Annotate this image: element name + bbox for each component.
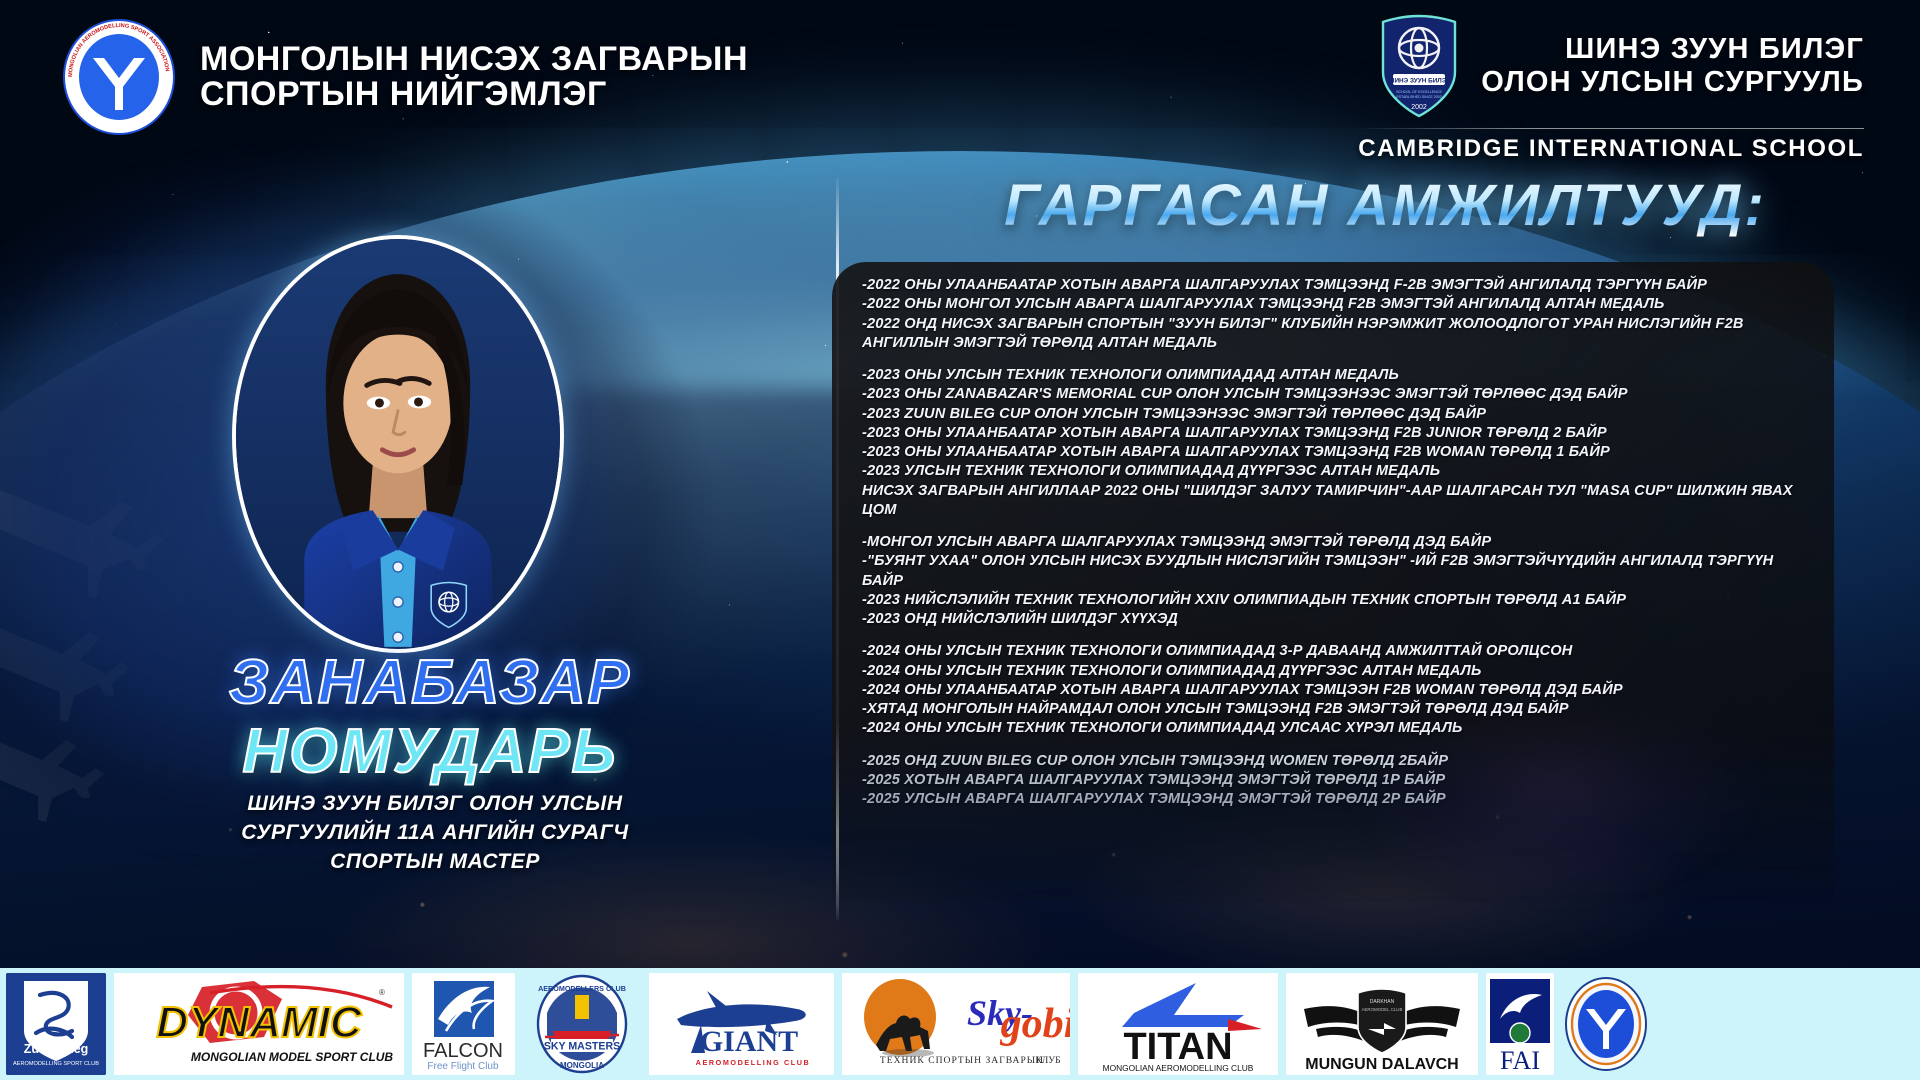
achievement-item: -2023 ОНД НИЙСЛЭЛИЙН ШИЛДЭГ ХҮҮХЭД <box>862 610 1808 629</box>
athlete-subtitle-line-1: ШИНЭ ЗУУН БИЛЭГ ОЛОН УЛСЫН <box>150 790 720 819</box>
shine-zuun-bileg-school-crest: ШИНЭ ЗУУН БИЛЭГ SCHOOL OF EXCELLENCE EST… <box>1377 14 1461 118</box>
achievement-item: НИСЭХ ЗАГВАРЫН АНГИЛЛААР 2022 ОНЫ "ШИЛДЭ… <box>862 482 1808 521</box>
masa-round-logo <box>1562 973 1650 1075</box>
svg-text:Zuun Bileg: Zuun Bileg <box>24 1042 89 1056</box>
achievement-item: -2025 ХОТЫН АВАРГА ШАЛГАРУУЛАХ ТЭМЦЭЭНД … <box>862 771 1808 790</box>
svg-text:Free Flight Club: Free Flight Club <box>427 1061 499 1072</box>
sponsor-titan[interactable]: TITAN MONGOLIAN AEROMODELLING CLUB <box>1078 973 1278 1075</box>
achievement-item: -2023 УЛСЫН ТЕХНИК ТЕХНОЛОГИ ОЛИМПИАДАД … <box>862 462 1808 481</box>
school-name: ШИНЭ ЗУУН БИЛЭГ ОЛОН УЛСЫН СУРГУУЛЬ <box>1481 33 1864 99</box>
sponsor-bar: Zuun Bileg AEROMODELLING SPORT CLUB DYNA… <box>0 968 1920 1080</box>
svg-text:DYNAMIC: DYNAMIC <box>156 998 363 1047</box>
org-line-1: МОНГОЛЫН НИСЭХ ЗАГВАРЫН <box>200 42 748 77</box>
org-name-left: МОНГОЛЫН НИСЭХ ЗАГВАРЫН СПОРТЫН НИЙГЭМЛЭ… <box>200 42 748 111</box>
sky-masters-logo: SKY MASTERS AEROMODELLERS CLUB MONGOLIA <box>523 973 641 1075</box>
achievement-spacer <box>862 629 1808 642</box>
sponsor-fai[interactable]: FAI <box>1486 973 1554 1075</box>
athlete-name-block: ЗАНАБАЗАР НОМУДАРЬ <box>0 650 860 784</box>
achievement-item: -2022 ОНД НИСЭХ ЗАГВАРЫН СПОРТЫН "ЗУУН Б… <box>862 315 1808 354</box>
org-branding-right: ШИНЭ ЗУУН БИЛЭГ SCHOOL OF EXCELLENCE EST… <box>1358 14 1864 163</box>
achievements-title: ГАРГАСАН АМЖИЛТУУД: <box>880 172 1920 239</box>
mongolian-aeromodelling-sport-association-logo: MONGOLIAN AEROMODELLING SPORT ASSOCIATIO… <box>60 18 178 136</box>
achievement-item: -"БУЯНТ УХАА" ОЛОН УЛСЫН НИСЭХ БУУДЛЫН Н… <box>862 552 1808 591</box>
athlete-subtitle-line-2: СУРГУУЛИЙН 11А АНГИЙН СУРАГЧ <box>150 819 720 848</box>
sponsor-zuun-bileg[interactable]: Zuun Bileg AEROMODELLING SPORT CLUB <box>6 973 106 1075</box>
achievement-item: -2023 ZUUN BILEG CUP ОЛОН УЛСЫН ТЭМЦЭЭНЭ… <box>862 405 1808 424</box>
svg-text:DARKHAN: DARKHAN <box>1370 999 1395 1005</box>
svg-text:MONGOLIAN MODEL SPORT CLUB: MONGOLIAN MODEL SPORT CLUB <box>191 1050 394 1064</box>
svg-text:SCHOOL OF EXCELLENCE: SCHOOL OF EXCELLENCE <box>1396 90 1442 94</box>
falcon-logo: FALCON Free Flight Club <box>412 973 515 1075</box>
achievement-item: -2023 НИЙСЛЭЛИЙН ТЕХНИК ТЕХНОЛОГИЙН XXIV… <box>862 591 1808 610</box>
sponsor-sky-gobi[interactable]: Sky- gobi ТЕХНИК СПОРТЫН ЗАГВАРЫН КЛУБ <box>842 973 1070 1075</box>
svg-text:FAI: FAI <box>1500 1046 1540 1075</box>
achievement-spacer <box>862 739 1808 752</box>
zuun-bileg-logo: Zuun Bileg AEROMODELLING SPORT CLUB <box>6 973 106 1075</box>
svg-text:AEROMODEL CLUB: AEROMODEL CLUB <box>1362 1007 1403 1012</box>
svg-text:GIANT: GIANT <box>700 1025 798 1058</box>
poster-root: MONGOLIAN AEROMODELLING SPORT ASSOCIATIO… <box>0 0 1920 1080</box>
svg-text:ESTABLISHED SINCE 2002: ESTABLISHED SINCE 2002 <box>1397 95 1442 99</box>
sponsor-sky-masters[interactable]: SKY MASTERS AEROMODELLERS CLUB MONGOLIA <box>523 973 641 1075</box>
achievement-item: -2022 ОНЫ УЛААНБААТАР ХОТЫН АВАРГА ШАЛГА… <box>862 276 1808 295</box>
athlete-last-name: НОМУДАРЬ <box>0 719 860 784</box>
achievement-item: -2023 ОНЫ УЛААНБААТАР ХОТЫН АВАРГА ШАЛГА… <box>862 443 1808 462</box>
svg-text:AEROMODELLERS CLUB: AEROMODELLERS CLUB <box>538 984 626 993</box>
svg-text:gobi: gobi <box>1000 1001 1070 1047</box>
mungun-dalavch-logo: DARKHAN AEROMODEL CLUB MUNGUN DALAVCH <box>1286 973 1478 1075</box>
school-line-2: ОЛОН УЛСЫН СУРГУУЛЬ <box>1481 66 1864 99</box>
athlete-subtitle: ШИНЭ ЗУУН БИЛЭГ ОЛОН УЛСЫН СУРГУУЛИЙН 11… <box>150 790 720 877</box>
svg-text:AEROMODELLING SPORT CLUB: AEROMODELLING SPORT CLUB <box>13 1061 99 1067</box>
achievements-panel: ГАРГАСАН АМЖИЛТУУД: -2022 ОНЫ УЛААНБААТА… <box>880 150 1920 940</box>
school-line-1: ШИНЭ ЗУУН БИЛЭГ <box>1481 33 1864 66</box>
dynamic-logo: DYNAMIC ® MONGOLIAN MODEL SPORT CLUB <box>114 973 404 1075</box>
achievement-spacer <box>862 353 1808 366</box>
achievement-item: -2023 ОНЫ УЛААНБААТАР ХОТЫН АВАРГА ШАЛГА… <box>862 424 1808 443</box>
achievement-item: -2023 ОНЫ УЛСЫН ТЕХНИК ТЕХНОЛОГИ ОЛИМПИА… <box>862 366 1808 385</box>
achievement-item: -2025 УЛСЫН АВАРГА ШАЛГАРУУЛАХ ТЭМЦЭЭНД … <box>862 790 1808 809</box>
portrait-frame <box>232 235 564 653</box>
achievements-box: -2022 ОНЫ УЛААНБААТАР ХОТЫН АВАРГА ШАЛГА… <box>832 262 1834 902</box>
achievement-item: -2025 ОНД ZUUN BILEG CUP ОЛОН УЛСЫН ТЭМЦ… <box>862 752 1808 771</box>
header-divider-rule <box>1358 128 1864 129</box>
athlete-panel: ЗАНАБАЗАР НОМУДАРЬ ШИНЭ ЗУУН БИЛЭГ ОЛОН … <box>0 150 860 940</box>
achievement-spacer <box>862 520 1808 533</box>
svg-text:ШИНЭ ЗУУН БИЛЭГ: ШИНЭ ЗУУН БИЛЭГ <box>1388 78 1450 85</box>
svg-text:КЛУБ: КЛУБ <box>1035 1055 1060 1066</box>
titan-logo: TITAN MONGOLIAN AEROMODELLING CLUB <box>1078 973 1278 1075</box>
giant-logo: GIANT AEROMODELLING CLUB <box>649 973 834 1075</box>
svg-text:TITAN: TITAN <box>1123 1026 1232 1068</box>
athlete-first-name: ЗАНАБАЗАР <box>0 650 860 715</box>
svg-text:®: ® <box>379 988 385 997</box>
sky-gobi-logo: Sky- gobi ТЕХНИК СПОРТЫН ЗАГВАРЫН КЛУБ <box>842 973 1070 1075</box>
crest-year-text: 2002 <box>1411 104 1427 111</box>
achievement-item: -МОНГОЛ УЛСЫН АВАРГА ШАЛГАРУУЛАХ ТЭМЦЭЭН… <box>862 533 1808 552</box>
svg-text:MUNGUN DALAVCH: MUNGUN DALAVCH <box>1305 1056 1458 1073</box>
achievements-list: -2022 ОНЫ УЛААНБААТАР ХОТЫН АВАРГА ШАЛГА… <box>862 276 1808 809</box>
svg-text:MONGOLIA: MONGOLIA <box>560 1061 604 1070</box>
achievement-item: -2024 ОНЫ УЛСЫН ТЕХНИК ТЕХНОЛОГИ ОЛИМПИА… <box>862 719 1808 738</box>
svg-text:FALCON: FALCON <box>423 1040 503 1062</box>
svg-text:ТЕХНИК СПОРТЫН ЗАГВАРЫН: ТЕХНИК СПОРТЫН ЗАГВАРЫН <box>880 1055 1044 1066</box>
org-line-2: СПОРТЫН НИЙГЭМЛЭГ <box>200 77 748 112</box>
sponsor-giant[interactable]: GIANT AEROMODELLING CLUB <box>649 973 834 1075</box>
achievement-item: -2022 ОНЫ МОНГОЛ УЛСЫН АВАРГА ШАЛГАРУУЛА… <box>862 295 1808 314</box>
sponsor-mungun-dalavch[interactable]: DARKHAN AEROMODEL CLUB MUNGUN DALAVCH <box>1286 973 1478 1075</box>
achievement-item: -2024 ОНЫ УЛААНБААТАР ХОТЫН АВАРГА ШАЛГА… <box>862 681 1808 700</box>
athlete-subtitle-line-3: СПОРТЫН МАСТЕР <box>150 848 720 877</box>
svg-text:SKY MASTERS: SKY MASTERS <box>544 1041 620 1053</box>
achievement-item: -2024 ОНЫ УЛСЫН ТЕХНИК ТЕХНОЛОГИ ОЛИМПИА… <box>862 642 1808 661</box>
svg-text:AEROMODELLING CLUB: AEROMODELLING CLUB <box>696 1058 811 1067</box>
achievement-item: -2023 ОНЫ ZANABAZAR'S MEMORIAL CUP ОЛОН … <box>862 385 1808 404</box>
sponsor-falcon[interactable]: FALCON Free Flight Club <box>412 973 515 1075</box>
athlete-portrait <box>232 235 564 653</box>
achievement-item: -ХЯТАД МОНГОЛЫН НАЙРАМДАЛ ОЛОН УЛСЫН ТЭМ… <box>862 700 1808 719</box>
sponsor-dynamic[interactable]: DYNAMIC ® MONGOLIAN MODEL SPORT CLUB <box>114 973 404 1075</box>
fai-logo: FAI <box>1486 973 1554 1075</box>
poster-header: MONGOLIAN AEROMODELLING SPORT ASSOCIATIO… <box>0 0 1920 155</box>
achievement-item: -2024 ОНЫ УЛСЫН ТЕХНИК ТЕХНОЛОГИ ОЛИМПИА… <box>862 662 1808 681</box>
org-branding-left: MONGOLIAN AEROMODELLING SPORT ASSOCIATIO… <box>60 18 748 136</box>
svg-text:MONGOLIAN AEROMODELLING CLUB: MONGOLIAN AEROMODELLING CLUB <box>1103 1063 1254 1073</box>
portrait-photo <box>236 239 560 647</box>
school-subtitle: CAMBRIDGE INTERNATIONAL SCHOOL <box>1358 135 1864 163</box>
sponsor-masa-round[interactable] <box>1562 973 1650 1075</box>
